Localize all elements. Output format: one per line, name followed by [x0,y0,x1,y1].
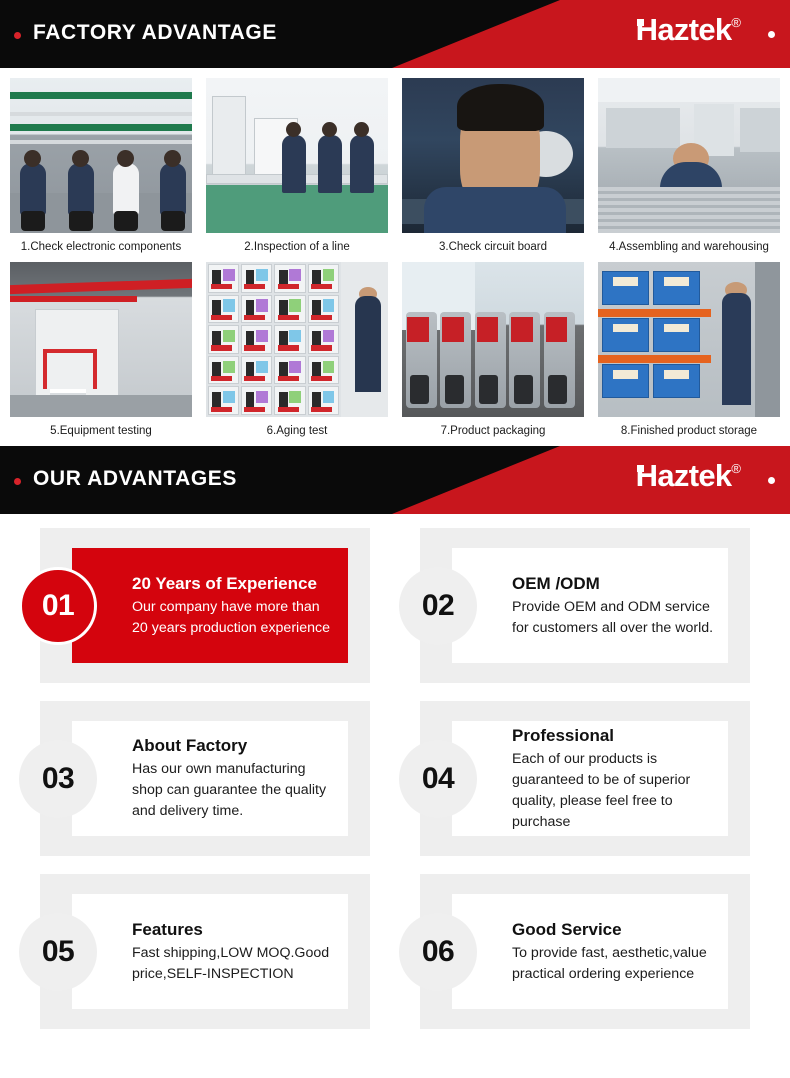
photo-caption-1: 1.Check electronic components [10,233,192,262]
advantage-card-grid: 01 20 Years of Experience Our company ha… [0,514,790,1047]
factory-photo-grid: 1.Check electronic components 2.Inspecti… [0,68,790,446]
photo-product-packaging [402,262,584,417]
photo-cell-3: 3.Check circuit board [402,78,584,262]
advantage-description: To provide fast, aesthetic,value practic… [512,943,718,985]
factory-advantage-banner: FACTORY ADVANTAGE Haztek ® [0,0,790,68]
logo-tittle-square [637,19,644,26]
photo-equipment-testing [10,262,192,417]
photo-assembling-and-warehousing [598,78,780,233]
photo-check-electronic-components [10,78,192,233]
advantage-description: Each of our products is guaranteed to be… [512,749,718,833]
advantage-title: OEM /ODM [512,573,718,595]
photo-caption-7: 7.Product packaging [402,417,584,446]
advantage-number-badge: 04 [399,740,477,818]
photo-cell-6: 6.Aging test [206,262,388,446]
photo-cell-2: 2.Inspection of a line [206,78,388,262]
registered-trademark-icon: ® [731,16,741,29]
photo-cell-5: 5.Equipment testing [10,262,192,446]
banner-right-dot-icon [768,31,775,38]
photo-check-circuit-board [402,78,584,233]
advantage-title: About Factory [132,735,338,757]
brand-logo: Haztek ® [636,13,741,49]
photo-finished-product-storage [598,262,780,417]
advantage-card-06: 06 Good Service To provide fast, aesthet… [420,874,750,1029]
advantage-text: Features Fast shipping,LOW MOQ.Good pric… [132,919,348,985]
photo-cell-7: 7.Product packaging [402,262,584,446]
photo-cell-1: 1.Check electronic components [10,78,192,262]
banner-title-advantages: OUR ADVANTAGES [33,467,237,491]
photo-caption-5: 5.Equipment testing [10,417,192,446]
photo-aging-test [206,262,388,417]
advantage-card-04: 04 Professional Each of our products is … [420,701,750,856]
banner-title-factory: FACTORY ADVANTAGE [33,21,277,45]
advantage-text: Good Service To provide fast, aesthetic,… [512,919,728,985]
advantage-card-05: 05 Features Fast shipping,LOW MOQ.Good p… [40,874,370,1029]
advantage-title: Professional [512,725,718,747]
advantage-card-inner: 06 Good Service To provide fast, aesthet… [452,894,728,1009]
photo-caption-8: 8.Finished product storage [598,417,780,446]
brand-logo: Haztek ® [636,459,741,495]
advantage-card-02: 02 OEM /ODM Provide OEM and ODM service … [420,528,750,683]
photo-inspection-of-a-line [206,78,388,233]
photo-caption-4: 4.Assembling and warehousing [598,233,780,262]
bullet-dot-icon [14,32,21,39]
advantage-number-badge: 01 [19,567,97,645]
advantage-title: 20 Years of Experience [132,573,338,595]
photo-caption-2: 2.Inspection of a line [206,233,388,262]
photo-cell-4: 4.Assembling and warehousing [598,78,780,262]
advantage-title: Features [132,919,338,941]
logo-tittle-square [637,465,644,472]
advantage-number-badge: 02 [399,567,477,645]
advantage-card-inner: 02 OEM /ODM Provide OEM and ODM service … [452,548,728,663]
banner-right-dot-icon [768,477,775,484]
advantage-card-03: 03 About Factory Has our own manufacturi… [40,701,370,856]
advantage-number-badge: 05 [19,913,97,991]
advantage-text: Professional Each of our products is gua… [512,725,728,833]
logo-wordmark: Haztek [636,459,732,493]
advantage-card-inner: 03 About Factory Has our own manufacturi… [72,721,348,836]
advantage-card-inner: 04 Professional Each of our products is … [452,721,728,836]
advantage-number-badge: 03 [19,740,97,818]
photo-caption-3: 3.Check circuit board [402,233,584,262]
page-root: FACTORY ADVANTAGE Haztek ® [0,0,790,1078]
photo-caption-6: 6.Aging test [206,417,388,446]
registered-trademark-icon: ® [731,462,741,475]
advantage-number-badge: 06 [399,913,477,991]
advantage-text: OEM /ODM Provide OEM and ODM service for… [512,573,728,639]
photo-cell-8: 8.Finished product storage [598,262,780,446]
advantage-title: Good Service [512,919,718,941]
advantage-card-01: 01 20 Years of Experience Our company ha… [40,528,370,683]
advantage-card-inner: 01 20 Years of Experience Our company ha… [72,548,348,663]
our-advantages-banner: OUR ADVANTAGES Haztek ® [0,446,790,514]
logo-wordmark: Haztek [636,13,732,47]
advantage-description: Our company have more than 20 years prod… [132,597,338,639]
bullet-dot-icon [14,478,21,485]
advantage-description: Has our own manufacturing shop can guara… [132,759,338,822]
advantage-description: Fast shipping,LOW MOQ.Good price,SELF-IN… [132,943,338,985]
advantage-description: Provide OEM and ODM service for customer… [512,597,718,639]
advantage-text: 20 Years of Experience Our company have … [132,573,348,639]
advantage-card-inner: 05 Features Fast shipping,LOW MOQ.Good p… [72,894,348,1009]
advantage-text: About Factory Has our own manufacturing … [132,735,348,822]
